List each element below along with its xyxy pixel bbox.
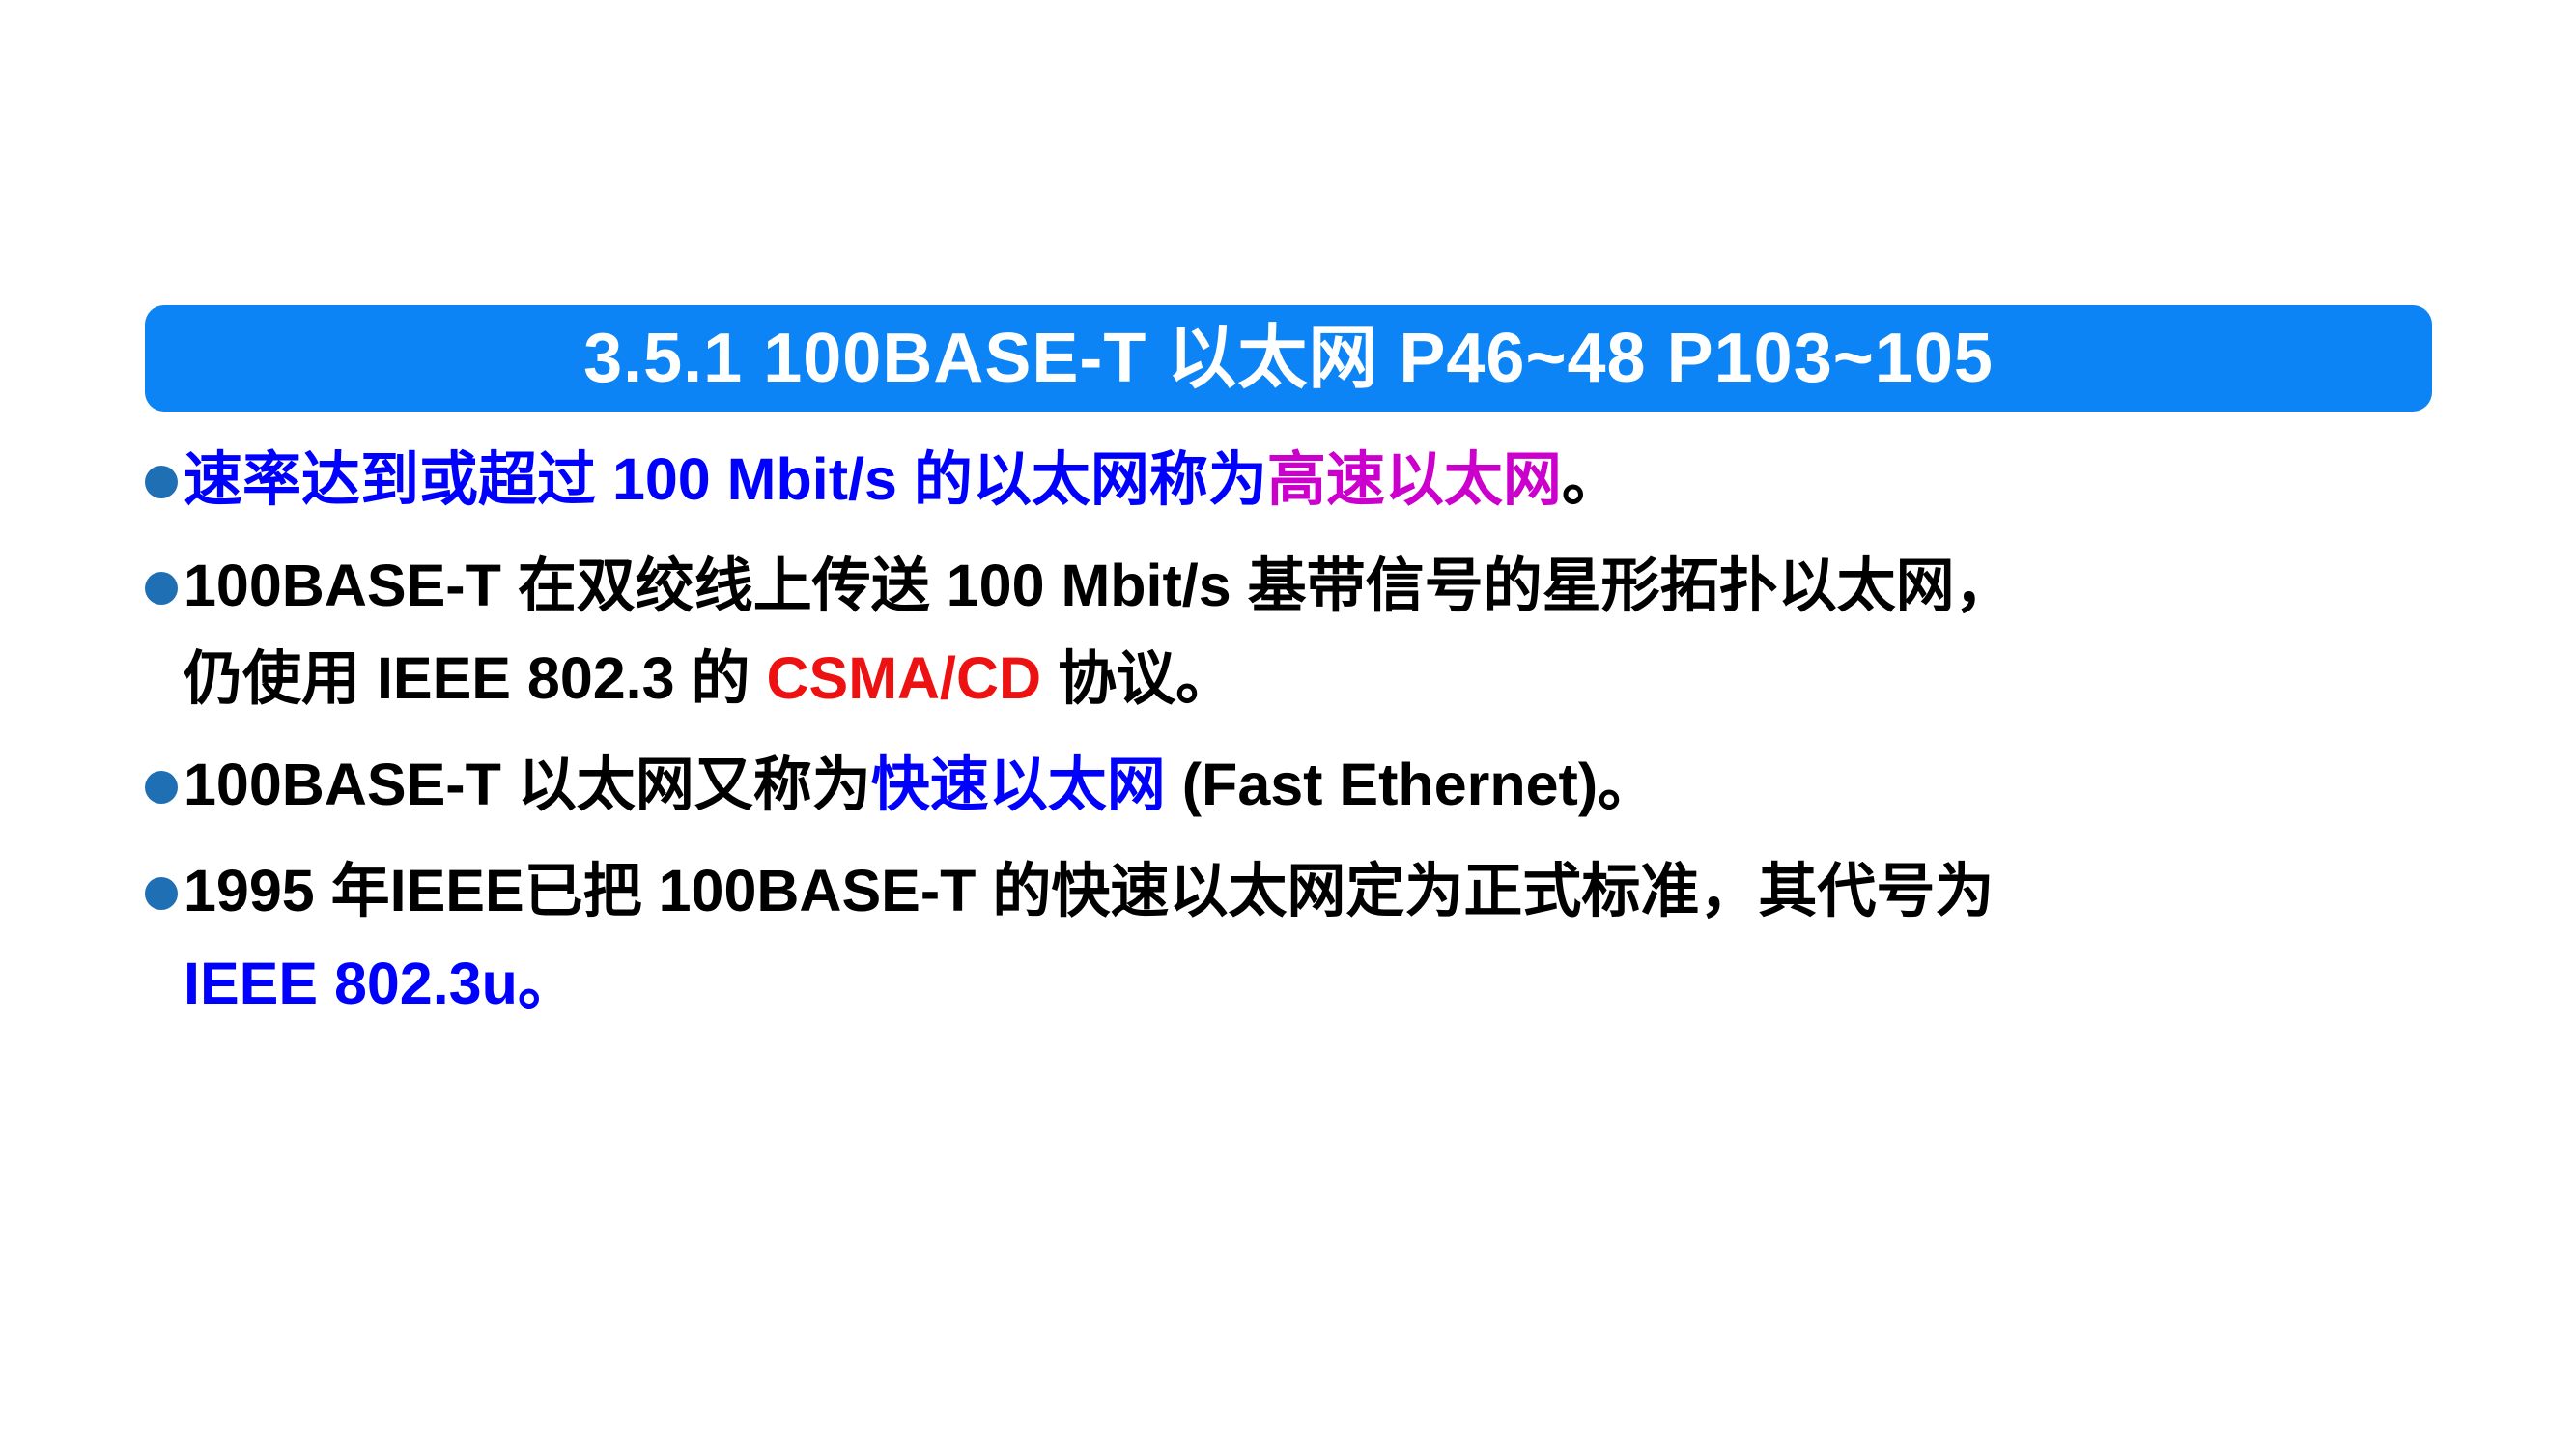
- bullet-first-line: 100BASE-T 在双绞线上传送 100 Mbit/s 基带信号的星形拓扑以太…: [145, 539, 2492, 632]
- bullet-text: 速率达到或超过 100 Mbit/s 的以太网称为高速以太网。: [184, 433, 1621, 526]
- text-segment-black: 协议。: [1041, 645, 1234, 711]
- bullet-dot-icon: [145, 877, 178, 910]
- bullet-text: 仍使用 IEEE 802.3 的 CSMA/CD 协议。: [184, 632, 1234, 724]
- text-segment-magenta: 高速以太网: [1267, 446, 1562, 512]
- bullet-dot-icon: [145, 466, 178, 498]
- bullet-text: IEEE 802.3u。: [184, 937, 577, 1030]
- slide-canvas: 3.5.1 100BASE-T 以太网 P46~48 P103~105 速率达到…: [0, 0, 2576, 1449]
- text-segment-black: (Fast Ethernet)。: [1166, 752, 1656, 817]
- bullet-item: 100BASE-T 在双绞线上传送 100 Mbit/s 基带信号的星形拓扑以太…: [145, 539, 2492, 724]
- text-segment-blue: IEEE 802.3u。: [184, 951, 577, 1016]
- page-title: 3.5.1 100BASE-T 以太网 P46~48 P103~105: [583, 324, 1994, 393]
- bullet-item: 1995 年IEEE已把 100BASE-T 的快速以太网定为正式标准，其代号为…: [145, 844, 2492, 1030]
- text-segment-black: 仍使用 IEEE 802.3 的: [184, 645, 766, 711]
- bullet-dot-icon: [145, 572, 178, 605]
- bullet-text: 100BASE-T 以太网又称为快速以太网 (Fast Ethernet)。: [184, 738, 1656, 831]
- bullet-continuation-line: IEEE 802.3u。: [145, 937, 2492, 1030]
- text-segment-black: 100BASE-T 在双绞线上传送 100 Mbit/s 基带信号的星形拓扑以太…: [184, 553, 2014, 618]
- text-segment-blue: 速率达到或超过 100 Mbit/s 的以太网称为: [184, 446, 1267, 512]
- bullet-dot-icon: [145, 771, 178, 804]
- text-segment-blue: 快速以太网: [871, 752, 1166, 817]
- bullet-continuation-line: 仍使用 IEEE 802.3 的 CSMA/CD 协议。: [145, 632, 2492, 724]
- bullet-list: 速率达到或超过 100 Mbit/s 的以太网称为高速以太网。100BASE-T…: [145, 433, 2492, 1043]
- bullet-item: 100BASE-T 以太网又称为快速以太网 (Fast Ethernet)。: [145, 738, 2492, 831]
- bullet-text: 1995 年IEEE已把 100BASE-T 的快速以太网定为正式标准，其代号为: [184, 844, 1994, 937]
- bullet-first-line: 1995 年IEEE已把 100BASE-T 的快速以太网定为正式标准，其代号为: [145, 844, 2492, 937]
- bullet-first-line: 100BASE-T 以太网又称为快速以太网 (Fast Ethernet)。: [145, 738, 2492, 831]
- bullet-first-line: 速率达到或超过 100 Mbit/s 的以太网称为高速以太网。: [145, 433, 2492, 526]
- text-segment-black: 100BASE-T 以太网又称为: [184, 752, 871, 817]
- text-segment-black: 1995 年IEEE已把 100BASE-T 的快速以太网定为正式标准，其代号为: [184, 858, 1994, 923]
- slide-title-banner: 3.5.1 100BASE-T 以太网 P46~48 P103~105: [145, 305, 2432, 412]
- text-segment-red: CSMA/CD: [766, 645, 1041, 711]
- bullet-text: 100BASE-T 在双绞线上传送 100 Mbit/s 基带信号的星形拓扑以太…: [184, 539, 2014, 632]
- text-segment-black: 。: [1562, 446, 1621, 512]
- bullet-item: 速率达到或超过 100 Mbit/s 的以太网称为高速以太网。: [145, 433, 2492, 526]
